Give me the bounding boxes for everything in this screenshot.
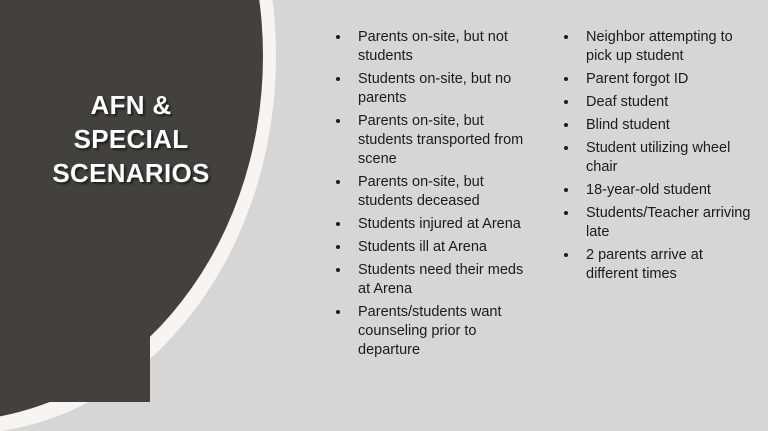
presentation-slide: AFN & SPECIAL SCENARIOS Parents on-site,… (0, 0, 768, 431)
list-item-label: 18-year-old student (586, 181, 758, 200)
list-item-label: Students need their meds at Arena (358, 261, 528, 299)
bullet-dot-icon (564, 188, 568, 192)
list-item-label: Students/Teacher arriving late (586, 204, 758, 242)
list-item-label: Student utilizing wheel chair (586, 139, 758, 177)
list-item-label: Students injured at Arena (358, 215, 528, 234)
bullet-dot-icon (564, 211, 568, 215)
list-item: Neighbor attempting to pick up student (556, 28, 758, 66)
dark-panel-fill (0, 0, 150, 402)
list-item: Blind student (556, 116, 758, 135)
bullet-dot-icon (336, 310, 340, 314)
bullet-dot-icon (336, 245, 340, 249)
bullet-dot-icon (564, 123, 568, 127)
bullet-dot-icon (336, 119, 340, 123)
list-item-label: Parents on-site, but not students (358, 28, 528, 66)
list-item: Parents on-site, but not students (328, 28, 528, 66)
list-item-label: Parents/students want counseling prior t… (358, 303, 528, 360)
list-item: Parents/students want counseling prior t… (328, 303, 528, 360)
list-item-label: Students on-site, but no parents (358, 70, 528, 108)
bullet-dot-icon (336, 222, 340, 226)
list-item: Students ill at Arena (328, 238, 528, 257)
left-bullet-list: Parents on-site, but not students Studen… (328, 28, 528, 360)
list-item: Students injured at Arena (328, 215, 528, 234)
bullet-dot-icon (564, 253, 568, 257)
slide-title: AFN & SPECIAL SCENARIOS (0, 88, 262, 190)
dark-panel-ellipse (0, 0, 263, 421)
list-item-label: 2 parents arrive at different times (586, 246, 758, 284)
slide-title-text: AFN & SPECIAL SCENARIOS (0, 88, 262, 190)
bullet-dot-icon (336, 268, 340, 272)
list-item: Student utilizing wheel chair (556, 139, 758, 177)
bullet-dot-icon (336, 35, 340, 39)
right-column: Neighbor attempting to pick up student P… (528, 28, 758, 288)
bullet-dot-icon (564, 100, 568, 104)
list-item: Students need their meds at Arena (328, 261, 528, 299)
list-item: Students/Teacher arriving late (556, 204, 758, 242)
list-item: Parents on-site, but students deceased (328, 173, 528, 211)
bullet-dot-icon (564, 35, 568, 39)
left-column: Parents on-site, but not students Studen… (310, 28, 528, 364)
content-columns: Parents on-site, but not students Studen… (310, 28, 758, 408)
list-item: 18-year-old student (556, 181, 758, 200)
list-item: Parents on-site, but students transporte… (328, 112, 528, 169)
curve-outline-arc (0, 0, 276, 431)
list-item-label: Deaf student (586, 93, 758, 112)
list-item-label: Parents on-site, but students deceased (358, 173, 528, 211)
bullet-dot-icon (336, 77, 340, 81)
list-item-label: Students ill at Arena (358, 238, 528, 257)
bullet-dot-icon (564, 146, 568, 150)
bullet-dot-icon (564, 77, 568, 81)
right-bullet-list: Neighbor attempting to pick up student P… (556, 28, 758, 284)
list-item-label: Neighbor attempting to pick up student (586, 28, 758, 66)
list-item: Students on-site, but no parents (328, 70, 528, 108)
list-item: Deaf student (556, 93, 758, 112)
list-item-label: Parent forgot ID (586, 70, 758, 89)
list-item-label: Blind student (586, 116, 758, 135)
list-item-label: Parents on-site, but students transporte… (358, 112, 528, 169)
list-item: Parent forgot ID (556, 70, 758, 89)
list-item: 2 parents arrive at different times (556, 246, 758, 284)
bullet-dot-icon (336, 180, 340, 184)
